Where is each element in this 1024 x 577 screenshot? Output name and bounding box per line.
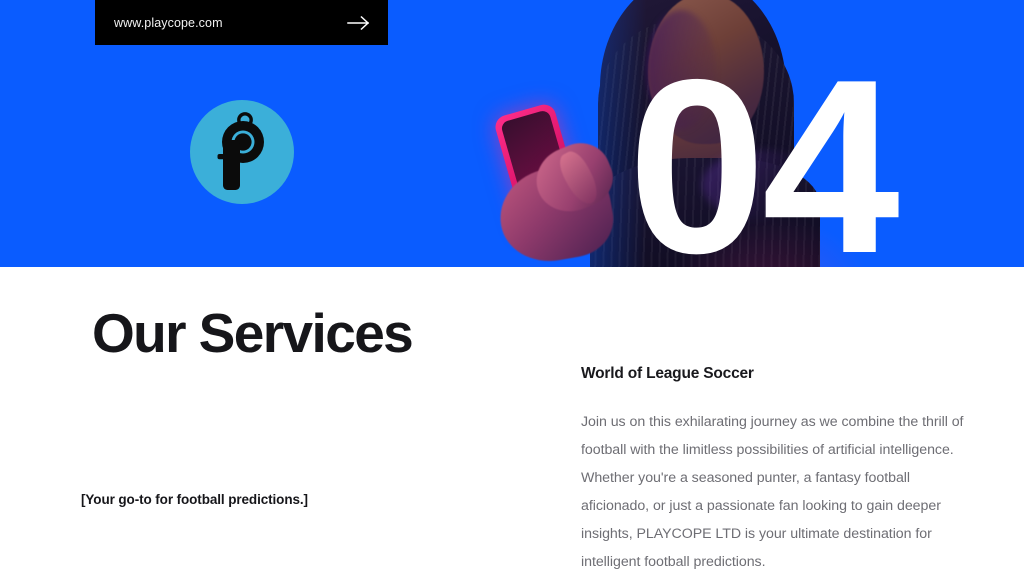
- whistle-p-logo-icon: [209, 112, 275, 192]
- page-title: Our Services: [92, 306, 412, 361]
- service-block: World of League Soccer Join us on this e…: [581, 365, 966, 577]
- url-bar[interactable]: www.playcope.com: [95, 0, 388, 45]
- hero-band: 04 www.playcope.com: [0, 0, 1024, 267]
- content-section: Our Services [Your go-to for football pr…: [0, 267, 1024, 576]
- arrow-right-icon[interactable]: [346, 15, 372, 31]
- service-heading: World of League Soccer: [581, 365, 966, 383]
- service-body: Join us on this exhilarating journey as …: [581, 409, 966, 577]
- url-text: www.playcope.com: [114, 16, 223, 30]
- brand-logo: [190, 100, 294, 204]
- slide-number: 04: [628, 60, 896, 267]
- tagline: [Your go-to for football predictions.]: [81, 492, 308, 507]
